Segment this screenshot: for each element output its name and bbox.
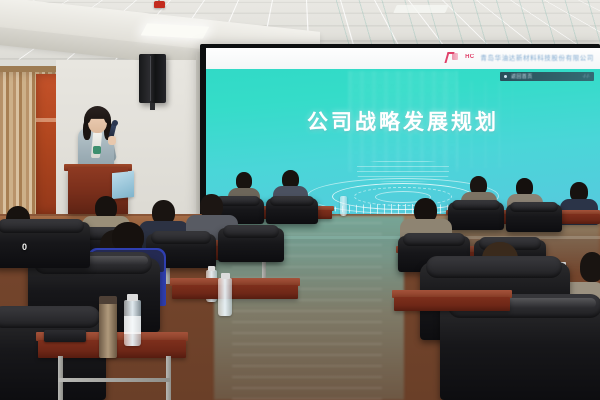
slide-toolbar[interactable]: 返回首页 ·/·/· xyxy=(500,72,594,81)
water-bottle xyxy=(340,196,347,216)
chair-headrest xyxy=(403,233,465,246)
bottle-label xyxy=(124,316,141,334)
seat-number: 0 xyxy=(22,242,27,252)
bottle-cap xyxy=(221,273,230,279)
slide-title: 公司战略发展规划 xyxy=(206,106,600,136)
presenter-scarf xyxy=(93,146,101,154)
hud-ring-dashed xyxy=(354,187,452,206)
home-icon xyxy=(504,75,507,78)
conference-room-photo: HC 青岛华油达新材料科技股份有限公司 返回首页 ·/·/· 公司战略发展规划 xyxy=(0,0,600,400)
fire-alarm-icon xyxy=(154,1,165,8)
chair-headrest xyxy=(426,256,562,278)
led-panel-light-2-icon xyxy=(393,5,449,13)
slide-header-bar: HC 青岛华油达新材料科技股份有限公司 xyxy=(206,48,600,69)
desk xyxy=(172,285,298,299)
thermos-lid xyxy=(99,296,117,304)
slide-toolbar-label: 返回首页 xyxy=(511,73,533,80)
bottle-cap xyxy=(127,294,138,301)
desk xyxy=(394,297,510,311)
company-logo-text: HC xyxy=(465,54,474,60)
speaker-seam xyxy=(150,56,151,101)
chair-headrest xyxy=(223,225,279,238)
bottle-cap xyxy=(208,266,215,271)
chair-headrest xyxy=(452,200,500,210)
water-bottle xyxy=(218,278,232,316)
company-name-text: 青岛华油达新材料科技股份有限公司 xyxy=(480,52,594,62)
slide-toolbar-right-label: ·/·/· xyxy=(582,74,590,80)
desk-crossbar xyxy=(58,378,170,382)
speaker-mount xyxy=(150,103,155,110)
wall-speaker-icon xyxy=(139,54,166,103)
thermos-cup xyxy=(99,302,117,358)
chair-headrest xyxy=(270,196,314,206)
notebook xyxy=(44,330,86,342)
chair-headrest xyxy=(0,219,84,233)
chair-headrest xyxy=(151,231,211,244)
chair-headrest xyxy=(0,306,100,328)
projection-screen[interactable]: HC 青岛华油达新材料科技股份有限公司 返回首页 ·/·/· 公司战略发展规划 xyxy=(206,48,600,215)
presenter-hand xyxy=(108,136,116,145)
company-logo-icon xyxy=(446,51,459,62)
microphone-capsule xyxy=(112,120,118,126)
podium-monitor xyxy=(112,171,134,199)
chair-headrest xyxy=(510,202,558,212)
